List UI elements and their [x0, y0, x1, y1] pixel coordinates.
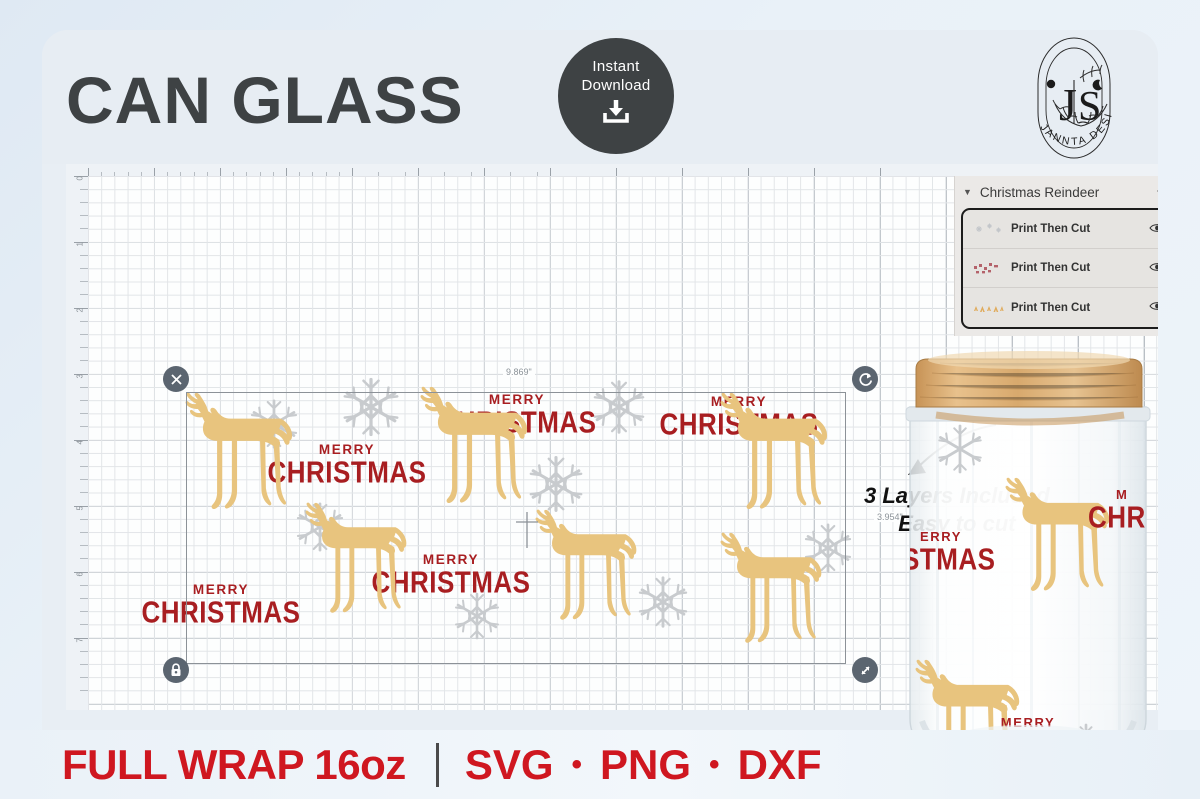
format-dxf: DXF [738, 741, 822, 789]
layer-group-header[interactable]: ▼ Christmas Reindeer [955, 176, 1158, 208]
vertical-ruler: 0 1 2 3 4 5 6 7 [66, 164, 88, 710]
horizontal-ruler [88, 164, 1158, 176]
format-png: PNG [600, 741, 691, 789]
badge-line-2: Download [581, 77, 650, 94]
layer-label: Print Then Cut [1011, 223, 1090, 235]
close-icon[interactable] [163, 366, 189, 392]
file-formats: SVG • PNG • DXF [465, 741, 822, 789]
download-icon [601, 98, 631, 129]
format-svg: SVG [465, 741, 554, 789]
page-title: CAN GLASS [66, 62, 464, 138]
layer-row[interactable]: Print Then Cut [963, 249, 1158, 288]
glass-mockup: ERRY STMAS M CHRI MERRY CHRISTMAS [880, 329, 1200, 799]
banner-divider [436, 743, 439, 787]
lock-icon[interactable] [163, 657, 189, 683]
svg-text:CHRI: CHRI [1088, 500, 1154, 535]
eye-icon[interactable] [1149, 300, 1158, 315]
eye-icon[interactable] [1149, 261, 1158, 276]
center-crosshair-marker [516, 512, 538, 548]
text-thumb [971, 257, 1005, 279]
svg-text:STMAS: STMAS [902, 542, 995, 577]
layers-panel[interactable]: ▼ Christmas Reindeer Print Then Cut [954, 176, 1158, 336]
chevron-down-icon[interactable]: ▼ [963, 187, 972, 197]
layer-label: Print Then Cut [1011, 262, 1090, 274]
bullet-separator: • [709, 750, 720, 780]
resize-icon[interactable] [852, 657, 878, 683]
eye-icon[interactable] [1157, 185, 1158, 200]
layer-row[interactable]: Print Then Cut [963, 288, 1158, 327]
wrap-size-label: FULL WRAP 16oz [62, 741, 406, 789]
eye-icon[interactable] [1149, 222, 1158, 237]
width-dimension-label: 9.869" [503, 367, 535, 377]
rotate-icon[interactable] [852, 366, 878, 392]
instant-download-badge: Instant Download [558, 38, 674, 154]
bottom-banner: FULL WRAP 16oz SVG • PNG • DXF [0, 730, 1200, 799]
badge-line-1: Instant [592, 58, 639, 75]
layer-label: Print Then Cut [1011, 302, 1090, 314]
brand-logo: J S JANNTA DESIGN CO [1008, 32, 1140, 164]
bullet-separator: • [572, 750, 583, 780]
snowflake-thumb [971, 218, 1005, 240]
layer-group-title: Christmas Reindeer [980, 185, 1099, 200]
layer-row[interactable]: Print Then Cut [963, 210, 1158, 249]
layer-rows-group: Print Then Cut [961, 208, 1158, 329]
reindeer-thumb [971, 297, 1005, 319]
